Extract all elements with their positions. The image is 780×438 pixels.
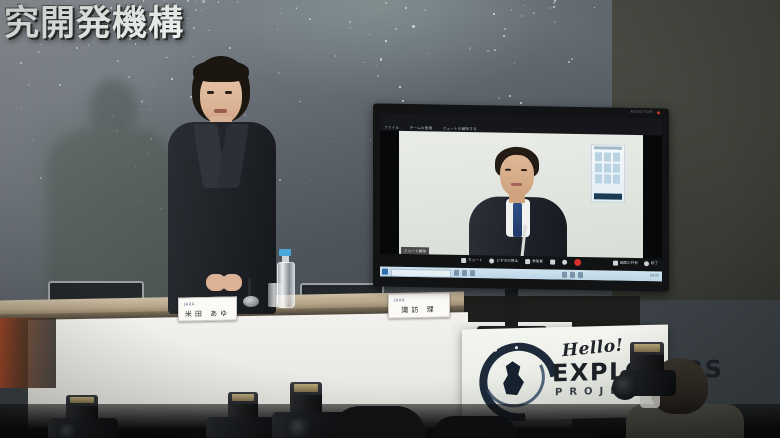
camera-lens [612,374,638,400]
monitor-brand-label: MONITOR [631,109,653,114]
microphone-stem [248,278,251,298]
remote-speaker-tie [513,203,522,237]
security-button[interactable] [562,260,567,265]
taskbar-app-icon[interactable] [470,270,475,276]
nameplate-org: JAXA [394,297,405,302]
wall-poster [591,144,625,203]
people-icon [525,259,530,264]
camera-flash [290,382,322,414]
nameplate-name: 米田 あゆ [179,308,236,319]
press-person-silhouette [432,416,518,438]
taskbar-search-box[interactable] [391,269,451,278]
camera-lens [286,418,312,438]
camera-lens [56,424,80,438]
video-feed[interactable]: ミュート解除 [399,131,643,260]
microphone-icon [461,258,466,263]
share-label: 画面の共有 [620,261,638,266]
nameplate-name: 諏訪 理 [389,304,449,315]
press-conference-photo: 究開発機構 JAXA 米田 あゆ JAXA 諏訪 理 [0,0,780,438]
stop-video-button[interactable]: ビデオの停止 [490,258,519,263]
taskbar-tray-icon[interactable] [562,272,567,278]
monitor-stand-neck [505,289,518,329]
camera-flash [630,342,664,372]
taskbar-app-icon[interactable] [454,270,459,276]
stop-video-label: ビデオの停止 [497,259,519,264]
remote-speaker-neck [509,191,525,203]
participants-button[interactable]: 参加者 [525,259,543,264]
leave-button[interactable]: 終了 [644,261,658,266]
taskbar-clock[interactable]: 16:22 [650,273,659,277]
shield-icon [562,260,567,265]
mute-label: ミュート [468,258,482,263]
camera-flash [228,392,258,420]
nameplate-left: JAXA 米田 あゆ [178,296,237,321]
nameplate-org: JAXA [184,301,195,306]
participants-label: 参加者 [532,259,543,264]
bottle-cap-icon [279,249,291,256]
desk-side-rail [0,318,56,388]
leave-label: 終了 [651,261,658,266]
record-button[interactable] [574,259,581,266]
mute-button[interactable]: ミュート [461,258,482,263]
press-camera [206,417,280,438]
share-screen-icon [613,261,618,266]
microphone-base [243,296,259,307]
taskbar-app-icon[interactable] [462,270,467,276]
crescent-explorer-emblem-icon [479,343,543,407]
remote-speaker-mouth [511,183,522,186]
monitor-display[interactable]: ファイル チームの管理 ミュートの解除する ホーム 編集 表示 挿入 書式設定 … [380,114,662,282]
water-bottle [277,262,295,308]
nameplate-right: JAXA 諏訪 理 [388,292,450,318]
leave-call-icon [644,261,649,266]
caption-overlay: 究開発機構 [4,4,184,44]
windows-start-icon[interactable] [382,269,388,275]
camera-icon [490,258,495,263]
taskbar-tray-icon[interactable] [578,272,583,278]
chat-icon [550,260,555,265]
chat-button[interactable] [550,260,555,265]
power-led-icon [657,111,660,114]
taskbar-tray-icon[interactable] [570,272,575,278]
presenter-figure [162,56,282,314]
monitor: MONITOR ファイル チームの管理 ミュートの解除する ホーム 編集 表示 … [373,103,669,291]
press-person-silhouette [330,406,426,438]
share-screen-button[interactable]: 画面の共有 [613,261,638,266]
